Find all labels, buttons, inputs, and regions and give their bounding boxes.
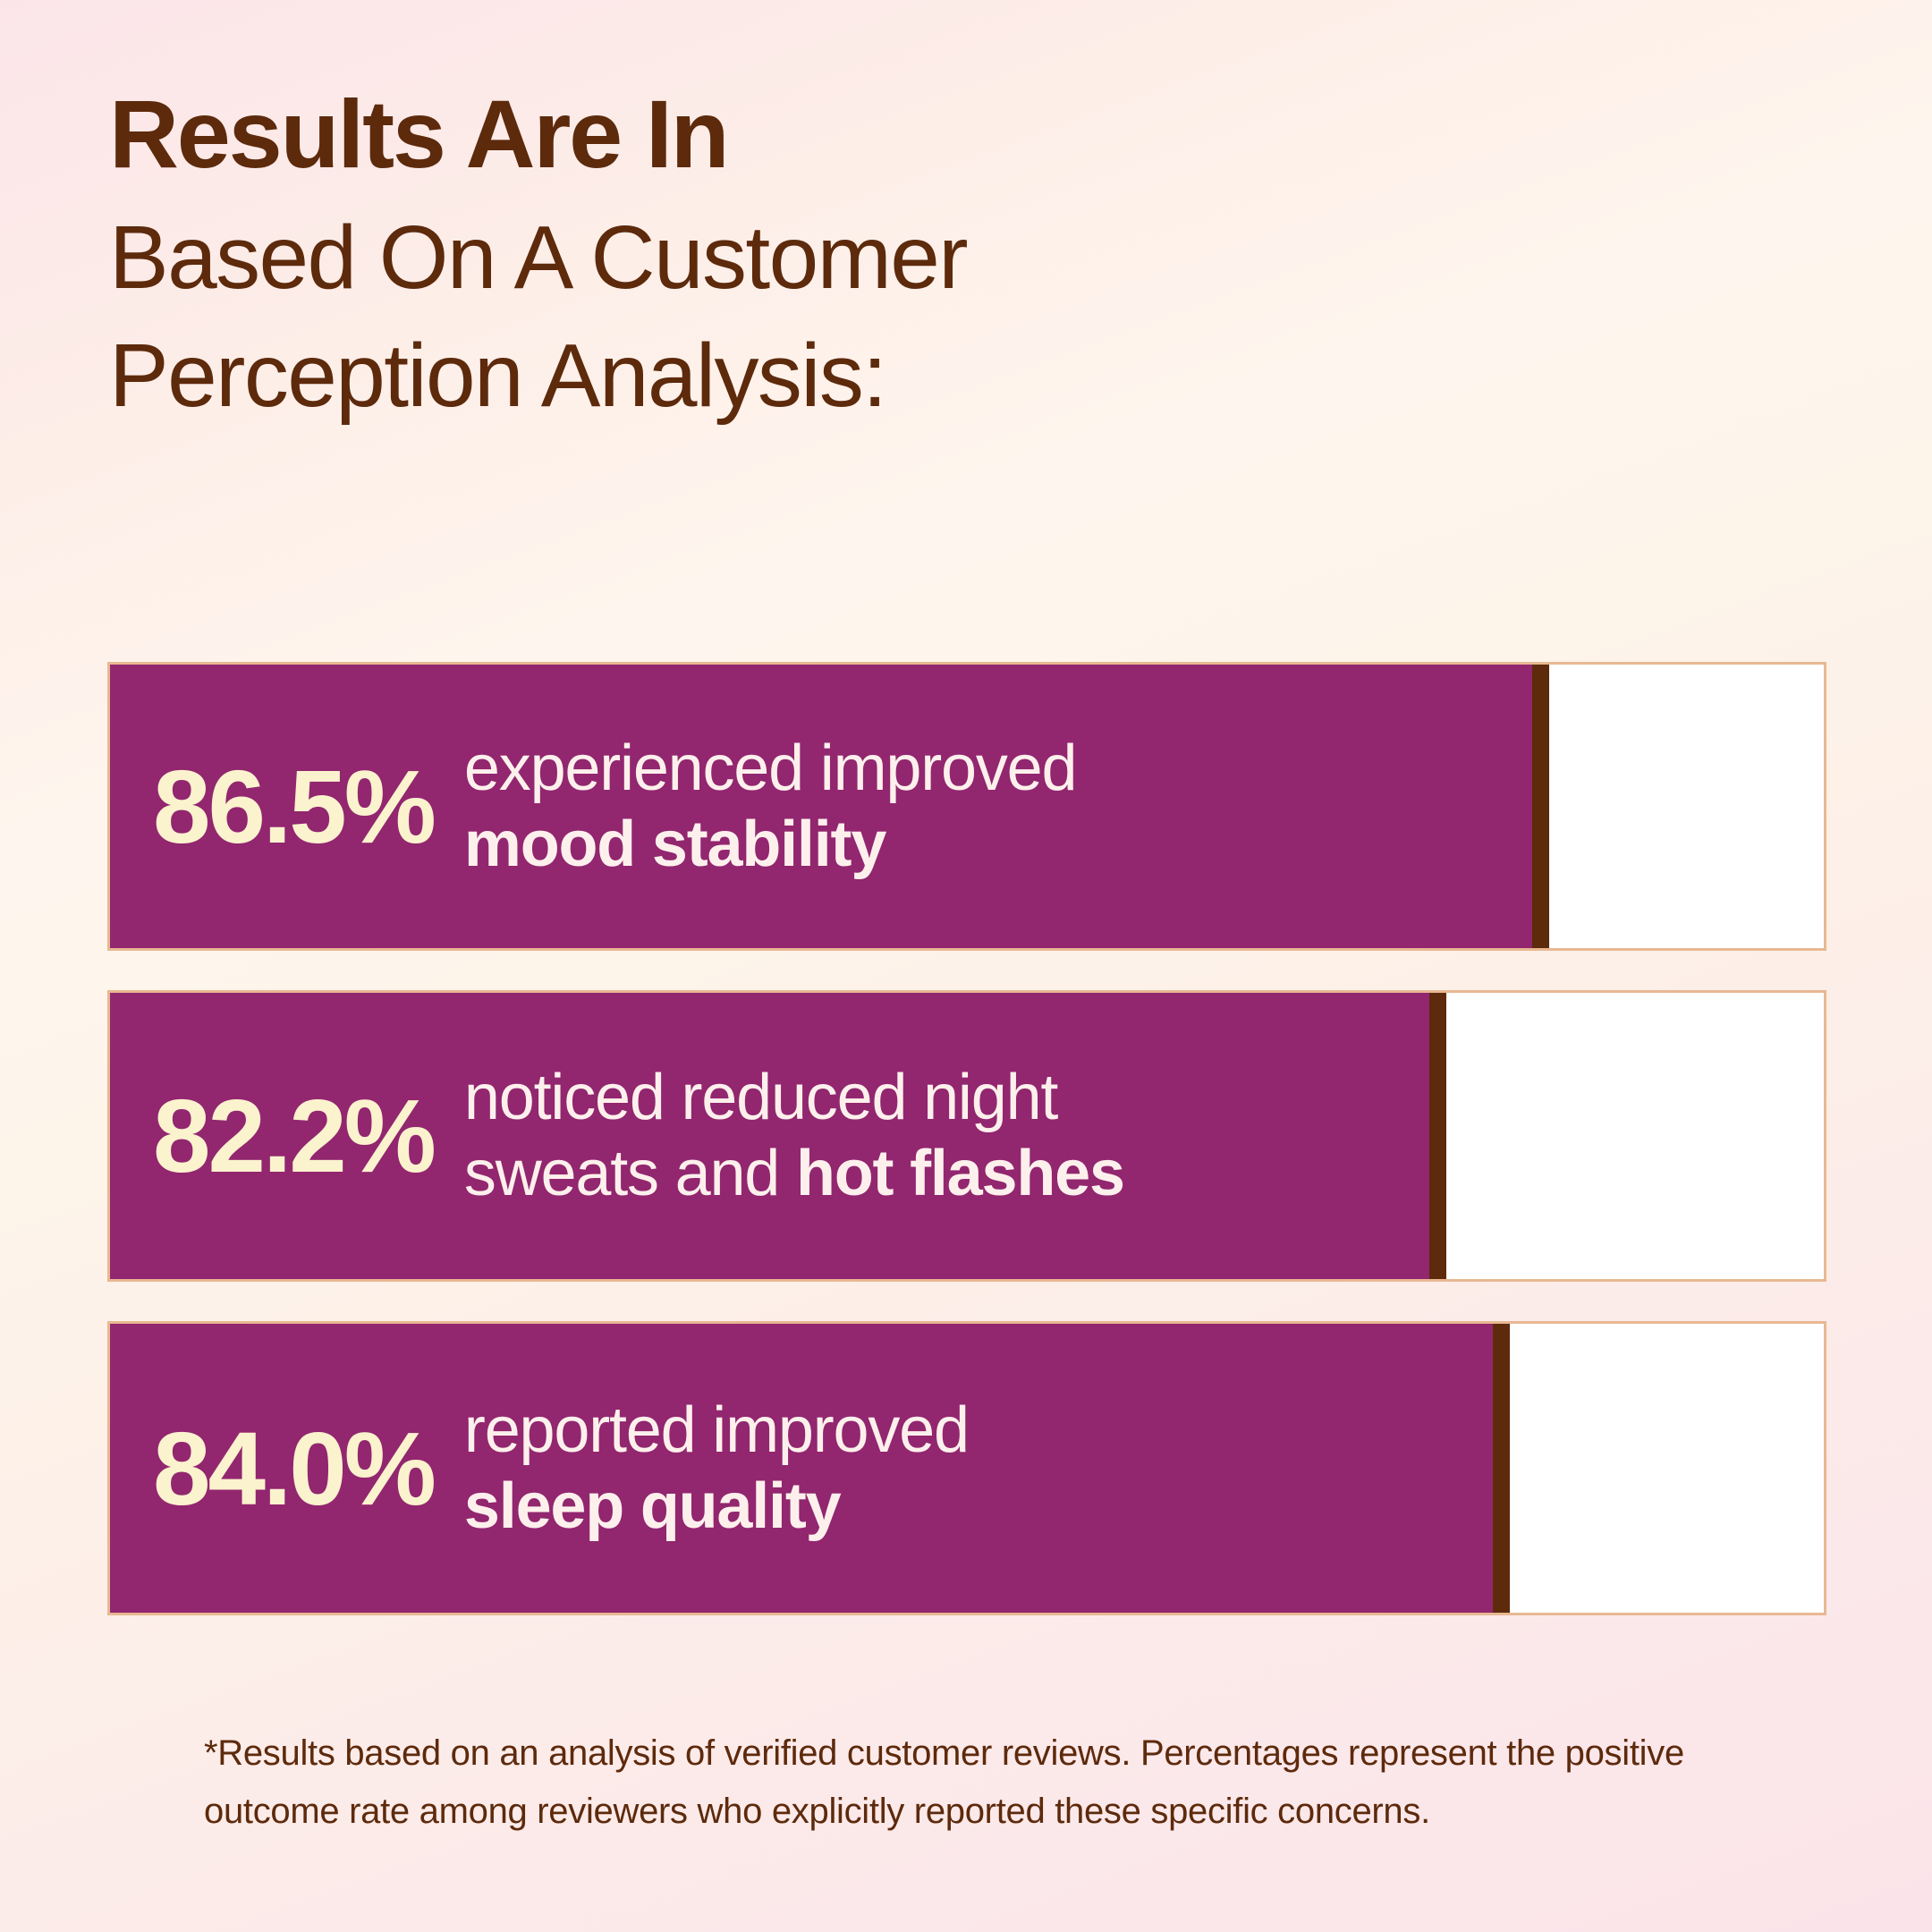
bar-content: 84.0% reported improved sleep quality xyxy=(110,1393,1493,1545)
stat-description-line-2: sweats and xyxy=(464,1138,796,1209)
stat-percentage: 86.5% xyxy=(153,755,434,859)
stat-description-highlight: hot flashes xyxy=(796,1138,1124,1209)
stat-description: noticed reduced night sweats and hot fla… xyxy=(464,1060,1430,1212)
stat-description: reported improved sleep quality xyxy=(464,1393,1493,1545)
stat-description-highlight: sleep quality xyxy=(464,1470,841,1542)
stat-description-line-1: experienced improved xyxy=(464,731,1533,807)
stat-description: experienced improved mood stability xyxy=(464,731,1533,883)
stat-bar-row: 86.5% experienced improved mood stabilit… xyxy=(107,662,1826,951)
stat-bar-row: 84.0% reported improved sleep quality xyxy=(107,1321,1826,1615)
footnote-disclaimer: *Results based on an analysis of verifie… xyxy=(204,1724,1739,1841)
stat-bar-list: 86.5% experienced improved mood stabilit… xyxy=(107,662,1826,1615)
stat-bar-row: 82.2% noticed reduced night sweats and h… xyxy=(107,990,1826,1282)
stat-percentage: 84.0% xyxy=(153,1417,434,1521)
stat-description-highlight: mood stability xyxy=(464,809,885,880)
bar-content: 86.5% experienced improved mood stabilit… xyxy=(110,731,1532,883)
subtitle-line-1: Based On A Customer xyxy=(109,199,1719,317)
bar-fill: 82.2% noticed reduced night sweats and h… xyxy=(110,993,1446,1279)
stat-percentage: 82.2% xyxy=(153,1084,434,1188)
stat-description-line-1: reported improved xyxy=(464,1393,1493,1469)
bar-fill: 86.5% experienced improved mood stabilit… xyxy=(110,665,1549,948)
subtitle-line-2: Perception Analysis: xyxy=(109,317,1719,435)
bar-fill: 84.0% reported improved sleep quality xyxy=(110,1324,1510,1613)
bar-content: 82.2% noticed reduced night sweats and h… xyxy=(110,1060,1429,1212)
infographic-poster: Results Are In Based On A Customer Perce… xyxy=(0,0,1932,1932)
stat-description-line-1: noticed reduced night xyxy=(464,1060,1430,1136)
page-title: Results Are In xyxy=(109,86,1719,182)
heading-block: Results Are In Based On A Customer Perce… xyxy=(109,86,1719,435)
